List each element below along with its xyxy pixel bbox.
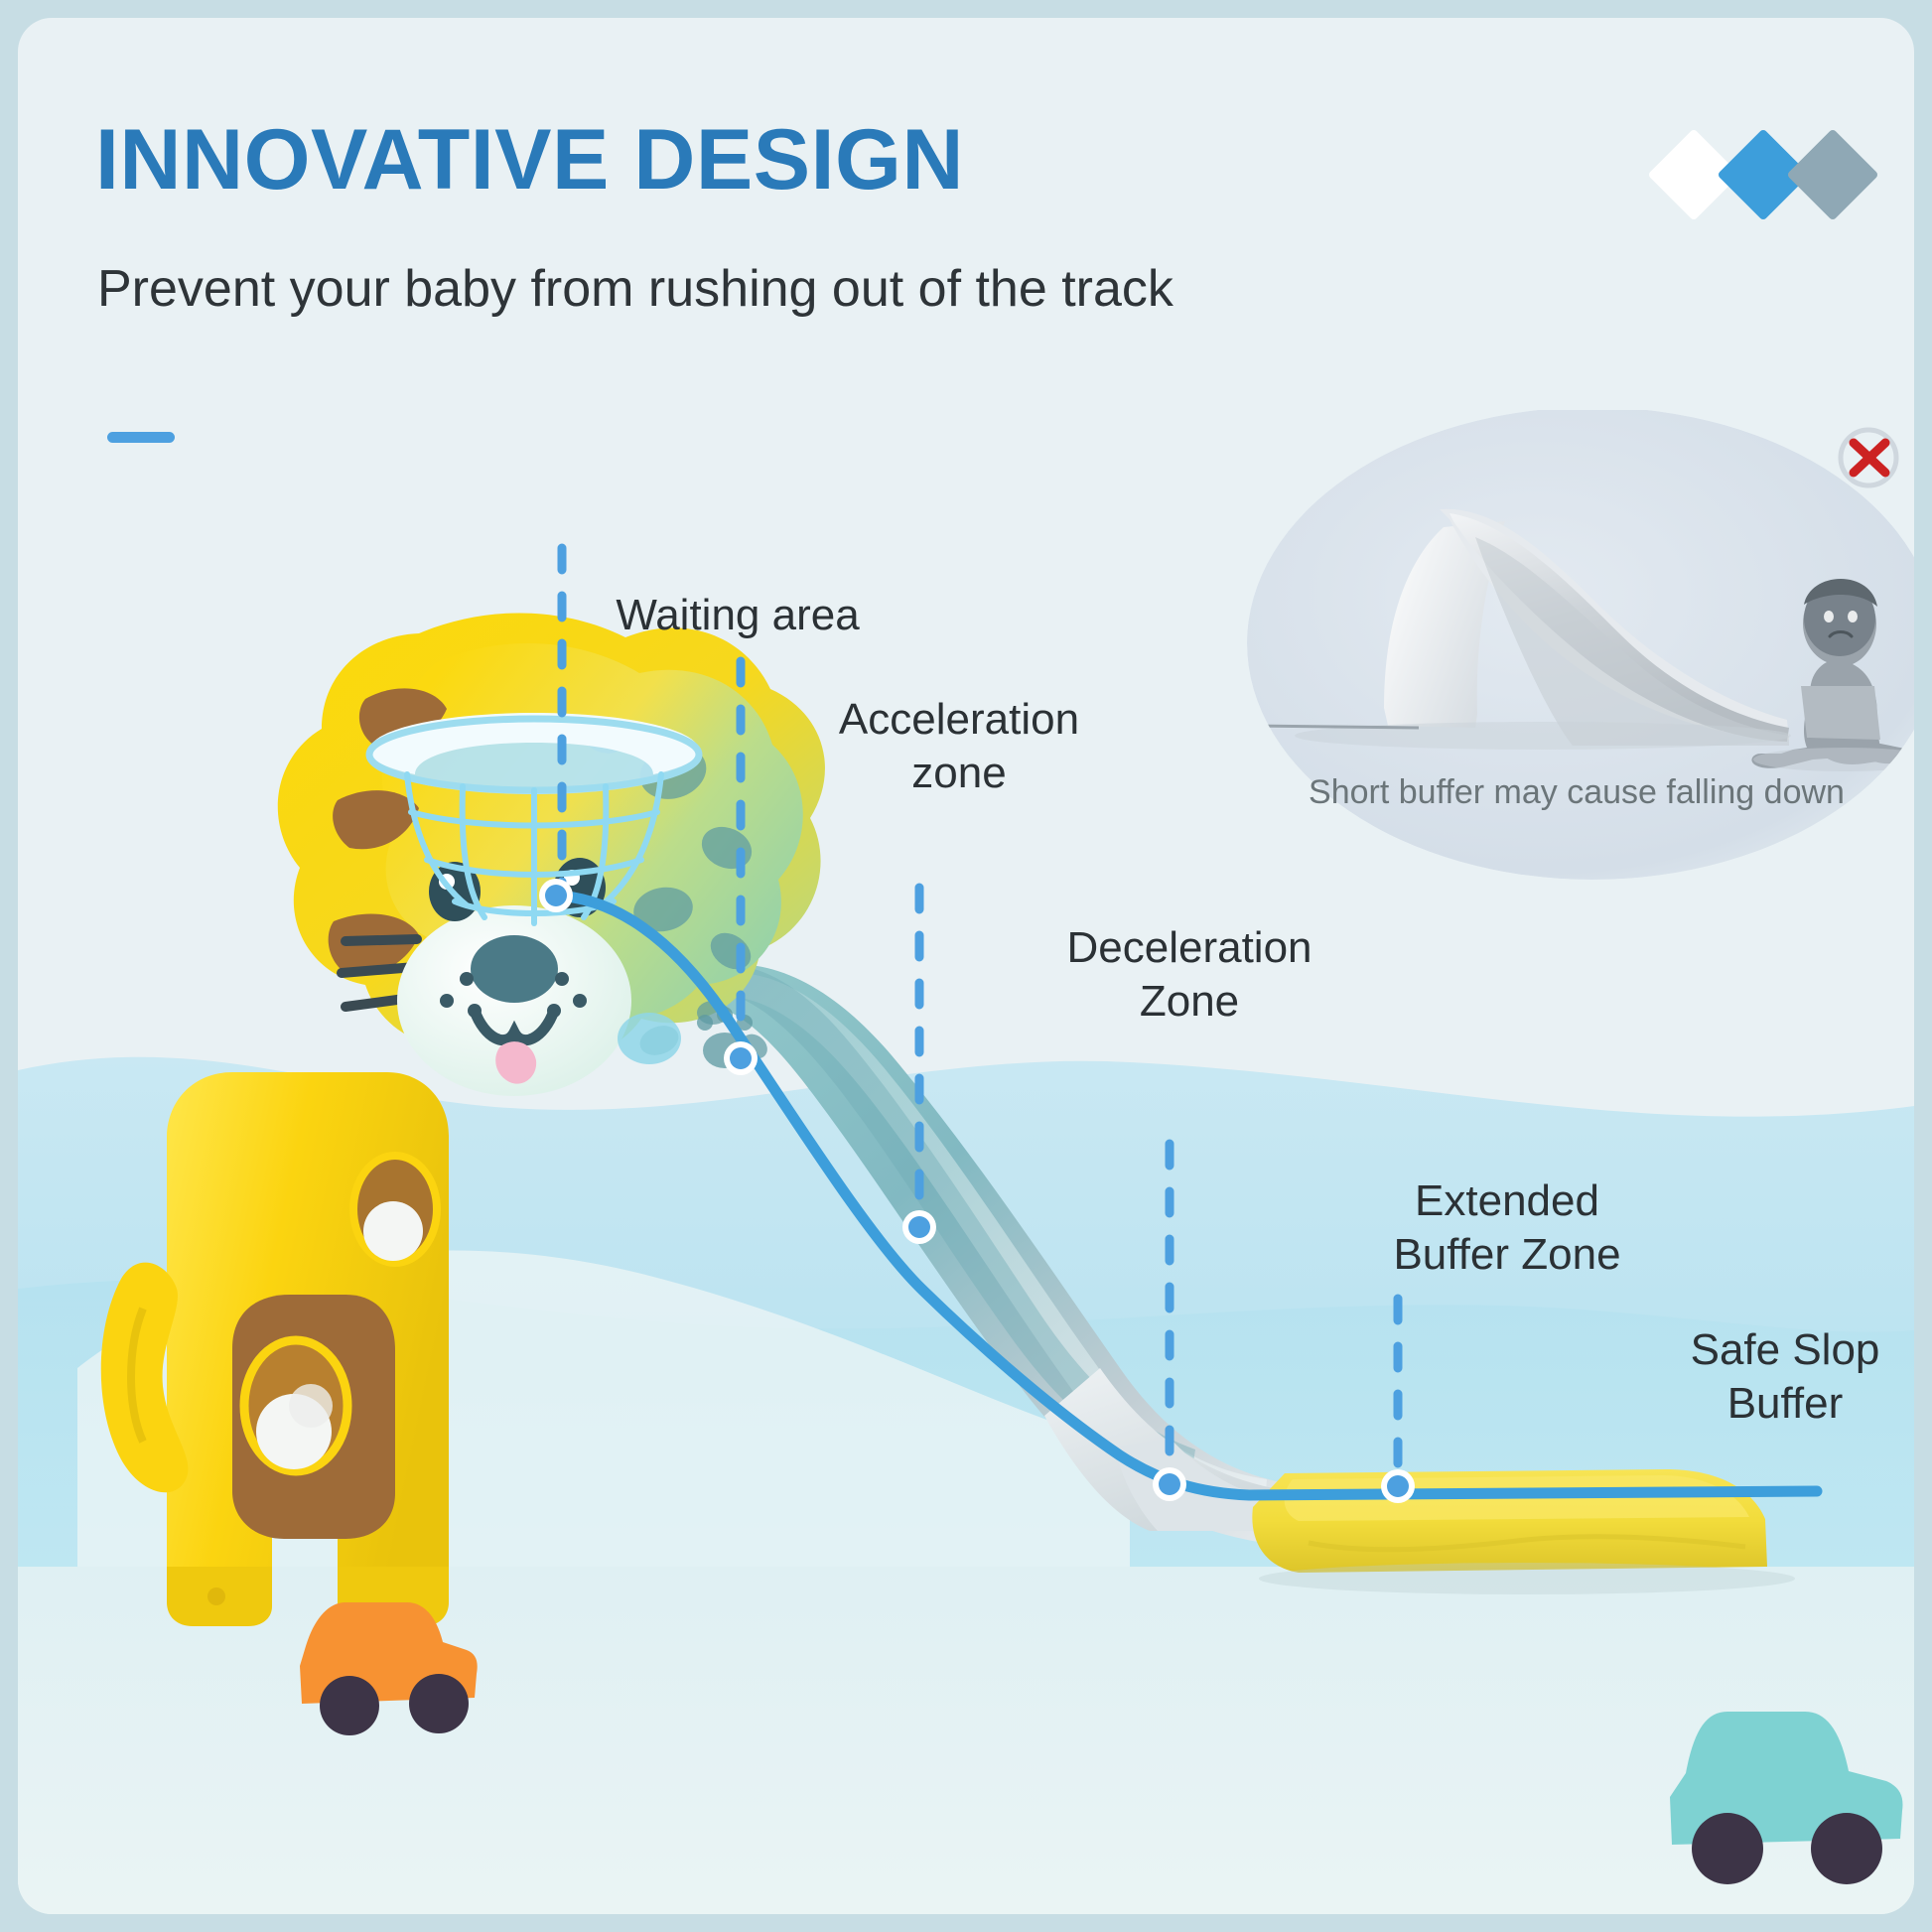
callout-label-deceleration: Deceleration Zone <box>1001 921 1378 1028</box>
callout-label-waiting: Waiting area <box>559 589 916 642</box>
annotation-overlay <box>18 18 1914 1914</box>
callout-label-extended-buffer: Extended Buffer Zone <box>1318 1174 1696 1281</box>
callout-label-safe-slop-buffer: Safe Slop Buffer <box>1626 1323 1914 1430</box>
callout-label-acceleration: Acceleration zone <box>770 693 1148 799</box>
infographic-card: INNOVATIVE DESIGN Prevent your baby from… <box>18 18 1914 1914</box>
infographic-stage: INNOVATIVE DESIGN Prevent your baby from… <box>0 0 1932 1932</box>
